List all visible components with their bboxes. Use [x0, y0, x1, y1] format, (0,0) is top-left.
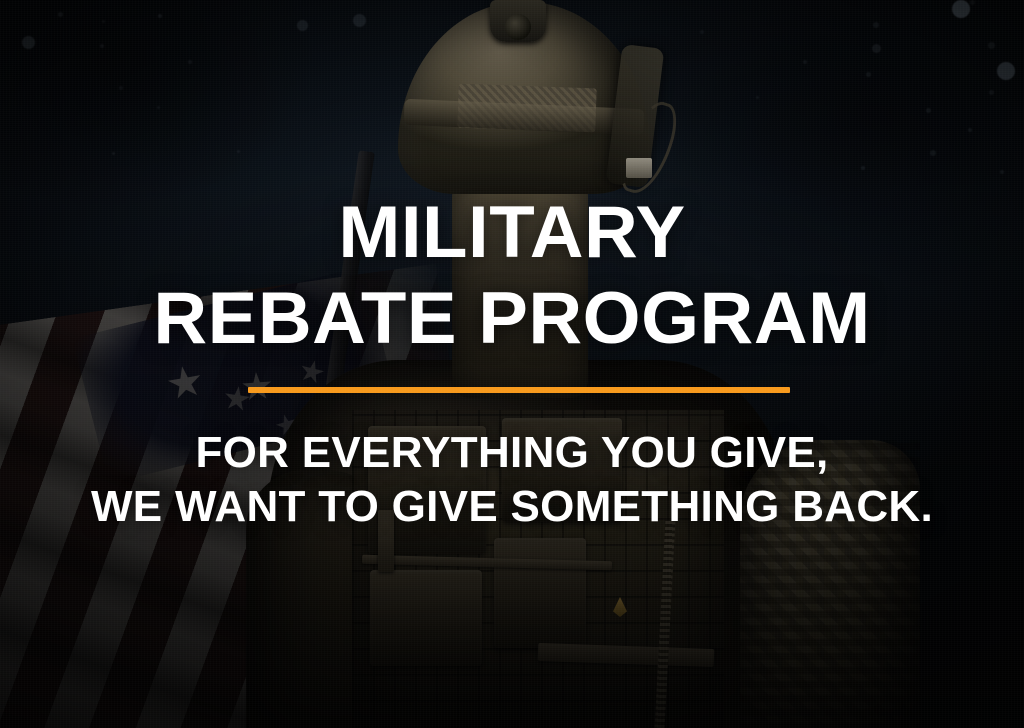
headline-line-1: MILITARY	[0, 199, 1024, 266]
military-rebate-banner: MILITARY REBATE PROGRAM FOR EVERYTHING Y…	[0, 0, 1024, 728]
subtitle-line-2: WE WANT TO GIVE SOMETHING BACK.	[0, 485, 1024, 529]
orange-divider-rule	[248, 387, 790, 393]
subtitle-line-1: FOR EVERYTHING YOU GIVE,	[0, 431, 1024, 475]
headline-line-2: REBATE PROGRAM	[0, 285, 1024, 352]
banner-text-content: MILITARY REBATE PROGRAM FOR EVERYTHING Y…	[0, 0, 1024, 728]
